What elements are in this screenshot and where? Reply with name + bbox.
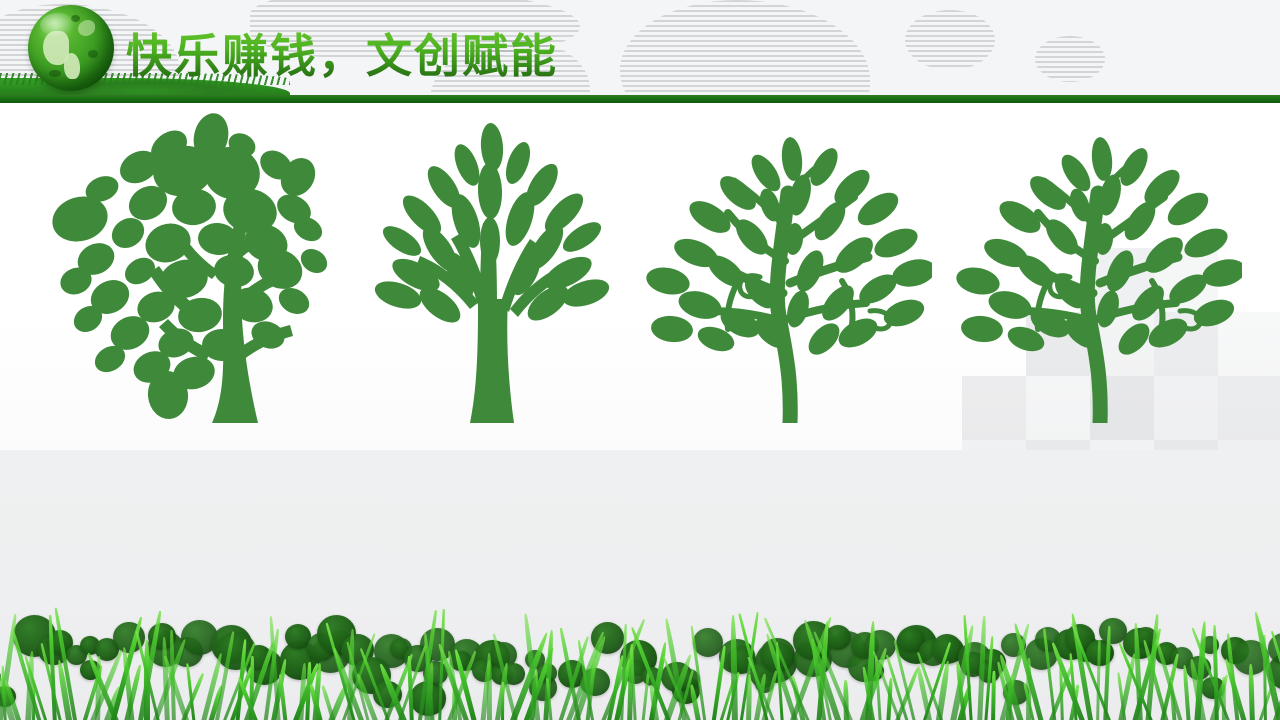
grass-blade xyxy=(991,671,996,720)
branch-tree-left xyxy=(642,133,932,423)
slide-header: 快乐赚钱，文创赋能 xyxy=(0,0,1280,104)
clover-grass-border xyxy=(0,560,1280,720)
header-divider-rule xyxy=(0,95,1280,103)
page-title: 快乐赚钱，文创赋能 xyxy=(126,30,558,82)
grass-blade xyxy=(1213,625,1220,720)
grass-blade xyxy=(730,615,737,720)
hand-tree xyxy=(372,123,612,423)
green-globe-icon xyxy=(28,5,114,91)
broadleaf-tree xyxy=(36,111,336,423)
grass-blade xyxy=(746,673,752,720)
tree-illustration-band xyxy=(0,103,1280,450)
branch-tree-right xyxy=(952,133,1242,423)
slide-canvas: 快乐赚钱，文创赋能 xyxy=(0,0,1280,720)
grass-blade xyxy=(501,682,505,720)
